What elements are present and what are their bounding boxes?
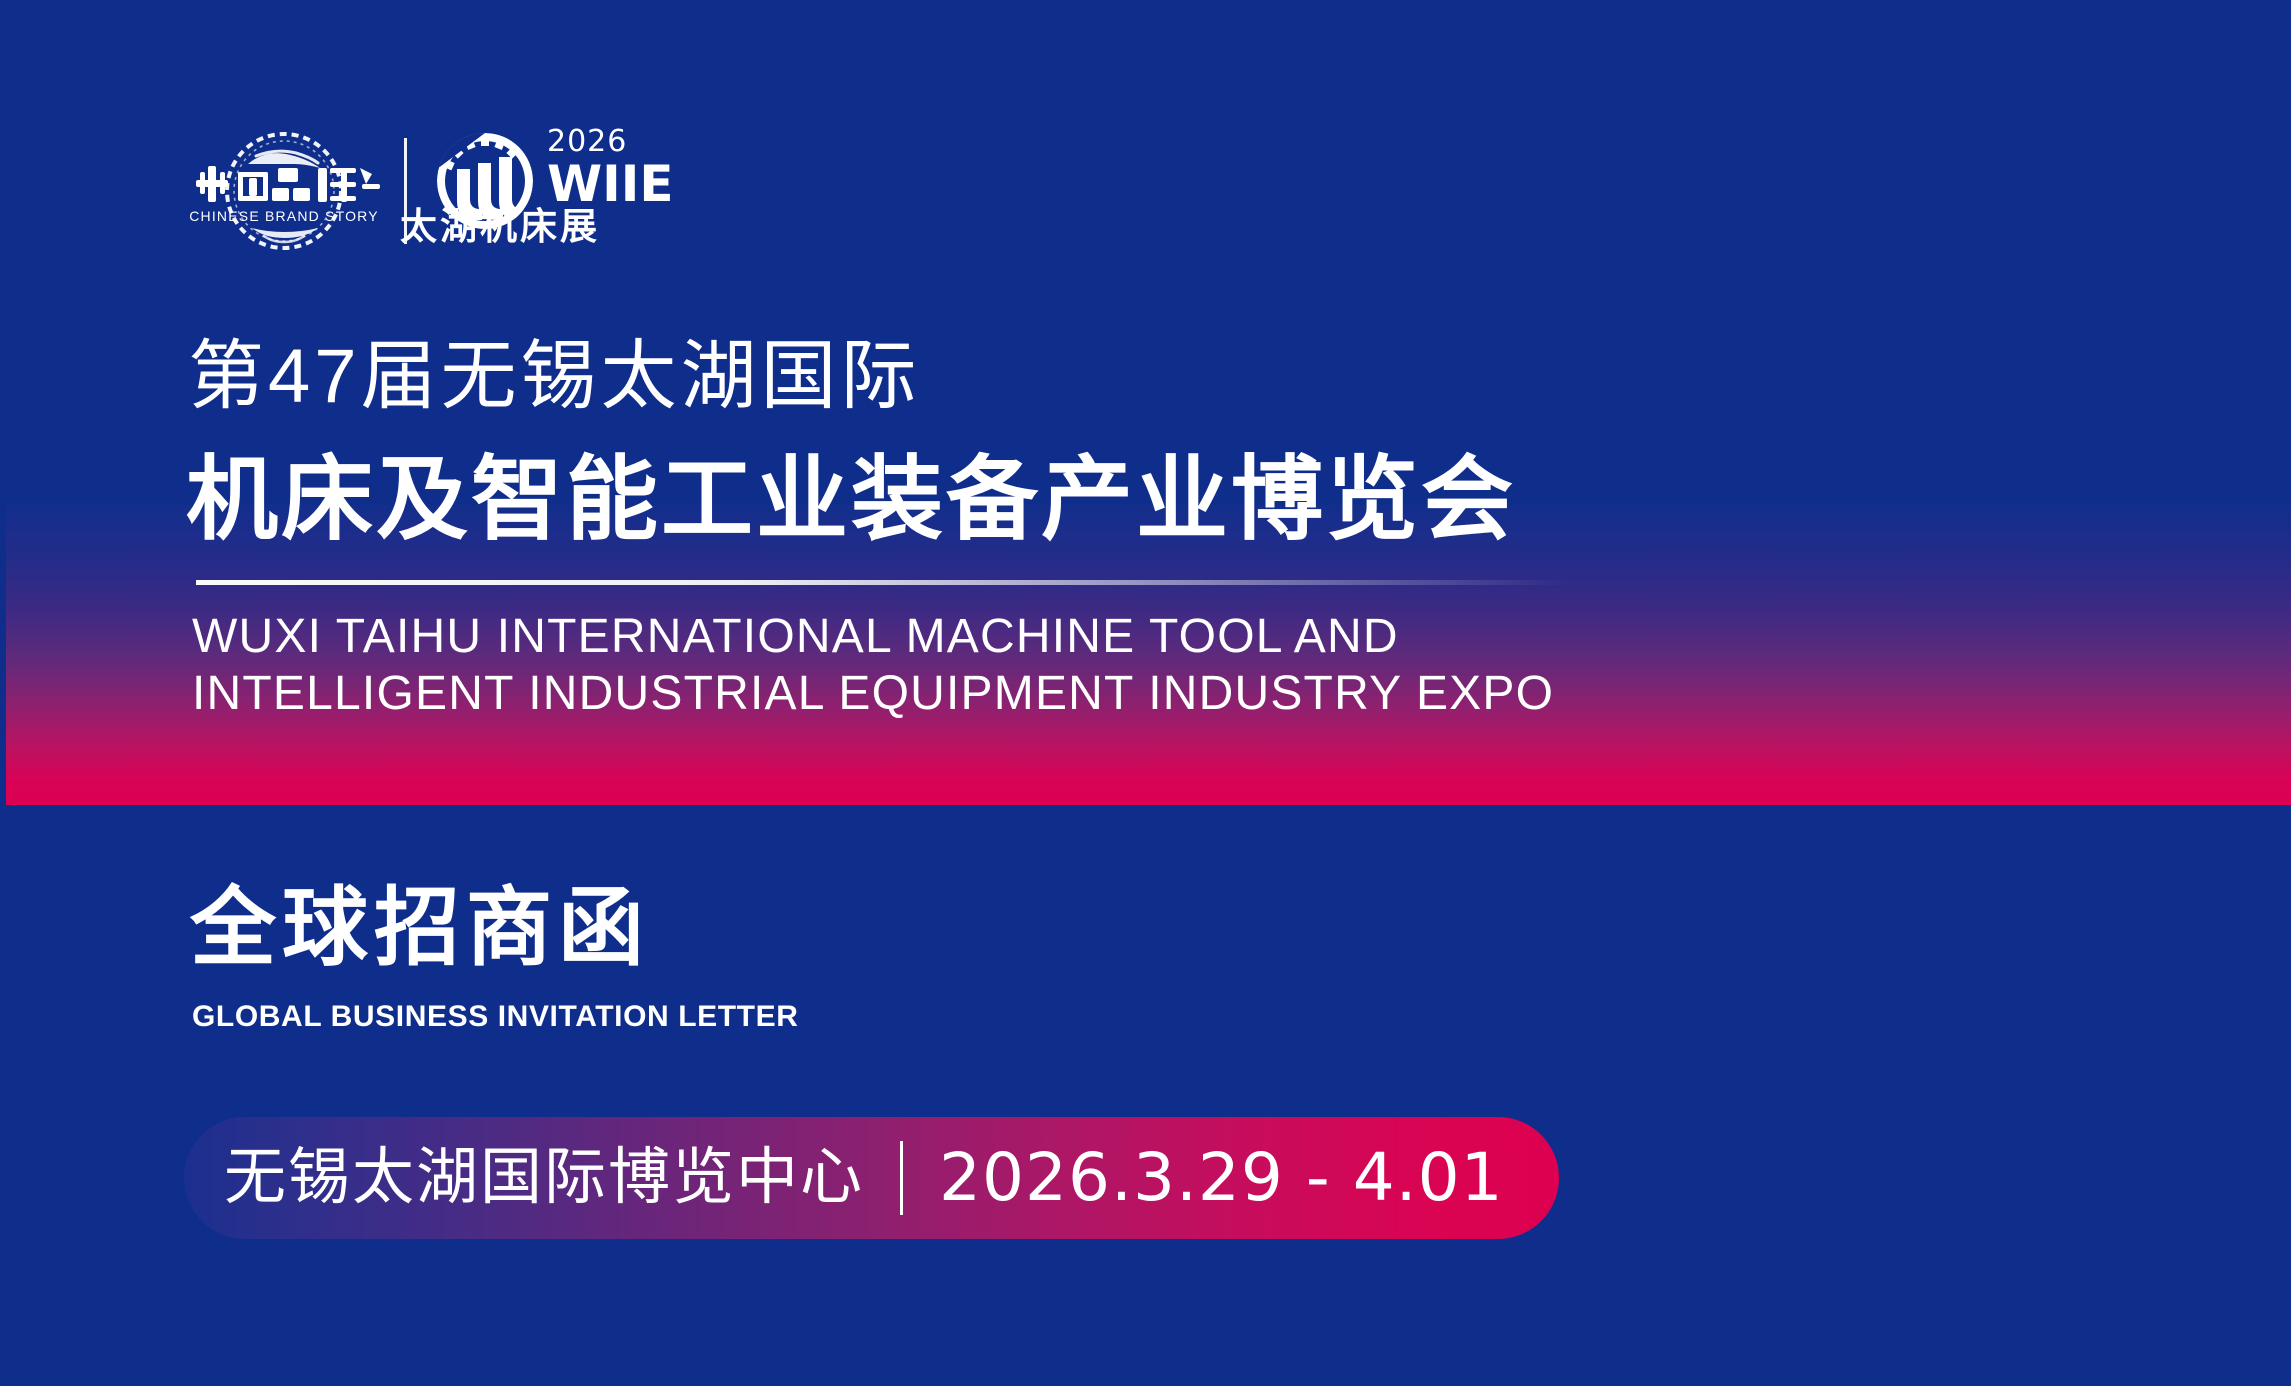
title-divider-rule bbox=[196, 580, 1566, 585]
pill-divider bbox=[900, 1141, 903, 1215]
invitation-title-en: GLOBAL BUSINESS INVITATION LETTER bbox=[192, 1000, 798, 1034]
wiie-chinese-label: 太湖机床展 bbox=[400, 208, 600, 246]
venue-label: 无锡太湖国际博览中心 bbox=[224, 1146, 864, 1210]
title-english-line-1: WUXI TAIHU INTERNATIONAL MACHINE TOOL AN… bbox=[192, 608, 1554, 665]
invitation-title-cn: 全球招商函 bbox=[190, 880, 650, 976]
title-line-1: 第47届无锡太湖国际 bbox=[188, 336, 921, 418]
chinese-brand-story-logo: CHINESE BRAND STORY bbox=[186, 128, 382, 254]
title-english-line-2: INTELLIGENT INDUSTRIAL EQUIPMENT INDUSTR… bbox=[192, 665, 1554, 722]
brand-story-en-label: CHINESE BRAND STORY bbox=[189, 208, 379, 224]
venue-date-pill: 无锡太湖国际博览中心 2026.3.29 - 4.01 bbox=[184, 1117, 1559, 1239]
title-english: WUXI TAIHU INTERNATIONAL MACHINE TOOL AN… bbox=[192, 608, 1554, 722]
poster-root: CHINESE BRAND STORY bbox=[0, 0, 2291, 1386]
date-label: 2026.3.29 - 4.01 bbox=[939, 1144, 1504, 1212]
wiie-acronym-label: WIIE bbox=[547, 159, 674, 209]
title-line-2: 机床及智能工业装备产业博览会 bbox=[186, 452, 1516, 548]
wiie-year-label: 2026 bbox=[547, 127, 674, 157]
